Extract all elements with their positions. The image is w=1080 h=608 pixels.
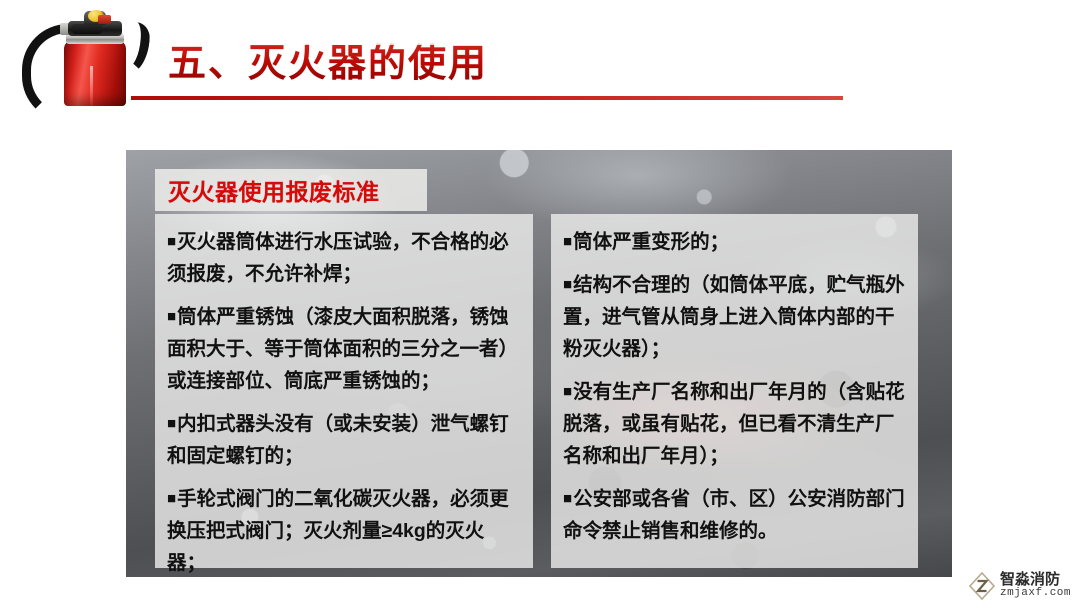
list-item-text: 筒体严重变形的；	[573, 231, 729, 253]
slide-canvas: 五、灭火器的使用 灭火器使用报废标准 ■灭火器筒体进行水压试验，不合格的必须报废…	[0, 0, 1080, 608]
bullet-square-icon: ■	[563, 233, 572, 250]
list-item-text: 没有生产厂名称和出厂年月的（含贴花脱落，或虽有贴花，但已看不清生产厂名称和出厂年…	[563, 381, 905, 467]
list-item: ■结构不合理的（如筒体平底，贮气瓶外置，进气管从筒身上进入筒体内部的干粉灭火器）…	[563, 269, 908, 365]
list-item-text: 公安部或各省（市、区）公安消防部门命令禁止销售和维修的。	[563, 488, 905, 542]
bullet-square-icon: ■	[167, 490, 176, 507]
list-item-text: 筒体严重锈蚀（漆皮大面积脱落，锈蚀面积大于、等于筒体面积的三分之一者）或连接部位…	[167, 306, 518, 392]
title-underline-rule	[131, 96, 843, 100]
list-item: ■筒体严重锈蚀（漆皮大面积脱落，锈蚀面积大于、等于筒体面积的三分之一者）或连接部…	[167, 301, 523, 397]
bullet-square-icon: ■	[563, 383, 572, 400]
list-item-text: 手轮式阀门的二氧化碳灭火器，必须更换压把式阀门；灭火剂量≥4kg的灭火器；	[167, 488, 509, 574]
extinguisher-hose-tip	[72, 24, 102, 34]
page-title: 五、灭火器的使用	[168, 45, 488, 83]
diamond-z-logo-icon	[969, 572, 995, 600]
bullet-square-icon: ■	[563, 490, 572, 507]
list-item: ■内扣式器头没有（或未安装）泄气螺钉和固定螺钉的；	[167, 408, 523, 472]
extinguisher-pin-tag	[98, 15, 111, 24]
list-item: ■筒体严重变形的；	[563, 226, 908, 258]
section-heading-band: 灭火器使用报废标准	[155, 169, 427, 211]
bullet-square-icon: ■	[167, 233, 176, 250]
list-item-text: 结构不合理的（如筒体平底，贮气瓶外置，进气管从筒身上进入筒体内部的干粉灭火器）；	[563, 274, 905, 360]
criteria-panel-right: ■筒体严重变形的； ■结构不合理的（如筒体平底，贮气瓶外置，进气管从筒身上进入筒…	[551, 214, 918, 568]
section-heading-text: 灭火器使用报废标准	[155, 173, 380, 207]
watermark-url: zmjaxf.com	[1000, 588, 1071, 600]
list-item: ■灭火器筒体进行水压试验，不合格的必须报废，不允许补焊；	[167, 226, 523, 290]
slide-header: 五、灭火器的使用	[0, 0, 1080, 108]
bullet-square-icon: ■	[167, 415, 176, 432]
bullet-square-icon: ■	[563, 276, 572, 293]
list-item: ■公安部或各省（市、区）公安消防部门命令禁止销售和维修的。	[563, 483, 908, 547]
watermark: 智淼消防 zmjaxf.com	[969, 572, 1071, 600]
watermark-text: 智淼消防 zmjaxf.com	[1000, 572, 1071, 599]
list-item-text: 内扣式器头没有（或未安装）泄气螺钉和固定螺钉的；	[167, 413, 509, 467]
list-item: ■手轮式阀门的二氧化碳灭火器，必须更换压把式阀门；灭火剂量≥4kg的灭火器；	[167, 483, 523, 579]
extinguisher-lever	[112, 21, 151, 76]
fire-extinguisher-icon	[8, 2, 168, 104]
criteria-panel-left: ■灭火器筒体进行水压试验，不合格的必须报废，不允许补焊； ■筒体严重锈蚀（漆皮大…	[155, 214, 533, 568]
list-item: ■没有生产厂名称和出厂年月的（含贴花脱落，或虽有贴花，但已看不清生产厂名称和出厂…	[563, 376, 908, 472]
watermark-brand: 智淼消防	[1000, 572, 1071, 588]
list-item-text: 灭火器筒体进行水压试验，不合格的必须报废，不允许补焊；	[167, 231, 509, 285]
bullet-square-icon: ■	[167, 308, 176, 325]
